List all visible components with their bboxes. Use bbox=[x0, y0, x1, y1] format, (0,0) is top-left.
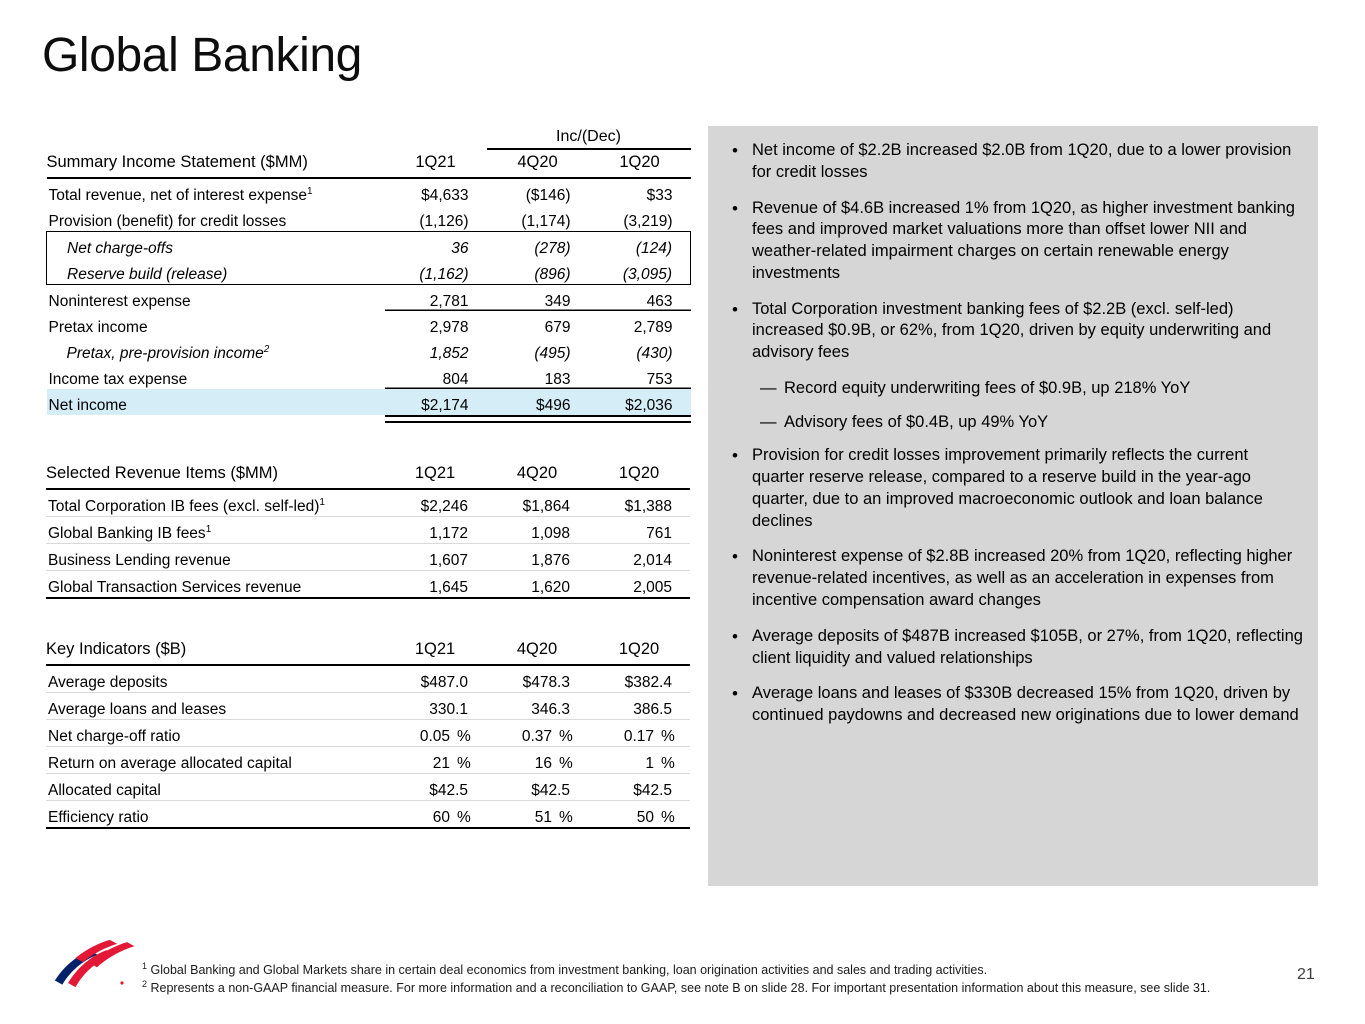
cell-value: 1,645 bbox=[429, 579, 468, 596]
row-value-cell: 21% bbox=[384, 747, 486, 774]
row-value-cell: 2,978 bbox=[385, 311, 487, 337]
cell-value: 0.17 bbox=[624, 728, 654, 746]
cell-value: 2,978 bbox=[430, 319, 469, 336]
cell-value: 50 bbox=[637, 809, 654, 827]
highlight-sub-bullet: —Advisory fees of $0.4B, up 49% YoY bbox=[718, 412, 1304, 434]
sub-bullet-text: Advisory fees of $0.4B, up 49% YoY bbox=[784, 413, 1048, 431]
row-value-cell: 0.17% bbox=[588, 720, 690, 747]
highlight-sub-bullet: —Record equity underwriting fees of $0.9… bbox=[718, 378, 1304, 400]
cell-value: $1,864 bbox=[523, 498, 570, 515]
table-bottom-rule bbox=[46, 827, 690, 828]
row-label-cell: Net charge-off ratio bbox=[46, 720, 384, 747]
row-label: Noninterest expense bbox=[49, 293, 191, 310]
highlight-bullet: •Noninterest expense of $2.8B increased … bbox=[718, 546, 1304, 611]
cell-value: $496 bbox=[536, 397, 570, 414]
row-value-cell: 0.37% bbox=[486, 720, 588, 747]
table-row: Pretax, pre-provision income21,852(495)(… bbox=[47, 337, 691, 363]
row-value-cell: ($146) bbox=[487, 178, 589, 205]
table-header-row: Summary Income Statement ($MM)1Q214Q201Q… bbox=[47, 149, 691, 177]
row-label: Income tax expense bbox=[49, 371, 188, 388]
row-value-cell: (3,095) bbox=[589, 258, 691, 285]
row-label: Average loans and leases bbox=[48, 701, 226, 718]
cell-value: (1,126) bbox=[419, 213, 468, 230]
row-value-cell: $33 bbox=[589, 178, 691, 205]
cell-value: 1,172 bbox=[429, 525, 468, 542]
cell-value: (896) bbox=[534, 266, 570, 283]
percent-sign: % bbox=[552, 755, 585, 773]
row-label-cell: Efficiency ratio bbox=[46, 801, 384, 828]
row-value-cell: $487.0 bbox=[384, 665, 486, 693]
column-header-label: Selected Revenue Items ($MM) bbox=[46, 461, 384, 488]
highlight-bullet: •Average deposits of $487B increased $10… bbox=[718, 626, 1304, 670]
column-header-label: Summary Income Statement ($MM) bbox=[47, 149, 385, 177]
cell-value: 21 bbox=[433, 755, 450, 773]
percent-sign: % bbox=[450, 755, 483, 773]
cell-value: 386.5 bbox=[633, 701, 672, 718]
cell-value: $478.3 bbox=[523, 674, 570, 691]
footnote-text: Global Banking and Global Markets share … bbox=[151, 963, 988, 977]
row-label: Allocated capital bbox=[48, 782, 161, 799]
cell-value: $42.5 bbox=[531, 782, 570, 799]
table-row: Average deposits$487.0$478.3$382.4 bbox=[46, 665, 690, 693]
cell-value: 753 bbox=[647, 371, 673, 388]
cell-value: 0.05 bbox=[420, 728, 450, 746]
row-label-cell: Total revenue, net of interest expense1 bbox=[47, 178, 385, 205]
cell-value: $2,246 bbox=[421, 498, 468, 515]
row-value-cell: (3,219) bbox=[589, 205, 691, 232]
row-value-cell: 1,876 bbox=[486, 544, 588, 571]
footnote-marker: 1 bbox=[307, 186, 313, 197]
bullet-text: Average deposits of $487B increased $105… bbox=[752, 627, 1303, 667]
percent-sign: % bbox=[552, 809, 585, 827]
highlights-panel: •Net income of $2.2B increased $2.0B fro… bbox=[708, 126, 1318, 886]
dash-marker-icon: — bbox=[760, 412, 777, 434]
table-header-row: Selected Revenue Items ($MM)1Q214Q201Q20 bbox=[46, 461, 690, 488]
table-row: Income tax expense804183753 bbox=[47, 363, 691, 389]
row-label: Provision (benefit) for credit losses bbox=[49, 213, 287, 230]
financial-tables-column: Inc/(Dec)Summary Income Statement ($MM)1… bbox=[46, 128, 690, 829]
footnotes: 1 Global Banking and Global Markets shar… bbox=[142, 962, 1262, 998]
table-row: Net income$2,174$496$2,036 bbox=[47, 389, 691, 415]
row-value-cell: 2,005 bbox=[588, 571, 690, 598]
cell-value: $382.4 bbox=[625, 674, 672, 691]
row-value-cell: $2,036 bbox=[589, 389, 691, 415]
percent-sign: % bbox=[450, 728, 483, 746]
row-label: Pretax income bbox=[49, 319, 148, 336]
column-header-1Q21: 1Q21 bbox=[384, 637, 486, 664]
cell-value: (3,219) bbox=[623, 213, 672, 230]
column-header-4Q20: 4Q20 bbox=[486, 637, 588, 664]
table-summary-income-statement: Inc/(Dec)Summary Income Statement ($MM)1… bbox=[46, 128, 691, 423]
row-value-cell: (124) bbox=[589, 232, 691, 259]
row-value-cell: (1,174) bbox=[487, 205, 589, 232]
row-label-cell: Global Transaction Services revenue bbox=[46, 571, 384, 598]
cell-value: 1 bbox=[645, 755, 654, 773]
sub-bullet-text: Record equity underwriting fees of $0.9B… bbox=[784, 379, 1190, 397]
double-rule bbox=[385, 415, 691, 423]
bullet-marker-icon: • bbox=[732, 140, 738, 162]
percent-sign: % bbox=[450, 809, 483, 827]
row-value-cell: $1,388 bbox=[588, 489, 690, 517]
row-label-cell: Average deposits bbox=[46, 665, 384, 693]
row-value-cell: 36 bbox=[385, 232, 487, 259]
page-number: 21 bbox=[1297, 966, 1315, 984]
cell-value: 2,005 bbox=[633, 579, 672, 596]
row-value-cell: 753 bbox=[589, 363, 691, 389]
footnote-marker: 2 bbox=[264, 344, 270, 355]
row-label: Net income bbox=[49, 397, 127, 414]
cell-value: 16 bbox=[535, 755, 552, 773]
percent-sign: % bbox=[654, 809, 687, 827]
row-value-cell: 1% bbox=[588, 747, 690, 774]
cell-value: 1,098 bbox=[531, 525, 570, 542]
row-value-cell: 16% bbox=[486, 747, 588, 774]
table-selected-revenue-items: Selected Revenue Items ($MM)1Q214Q201Q20… bbox=[46, 461, 690, 599]
row-label: Return on average allocated capital bbox=[48, 755, 292, 772]
row-value-cell: 1,098 bbox=[486, 517, 588, 544]
row-label-cell: Total Corporation IB fees (excl. self-le… bbox=[46, 489, 384, 517]
cell-value: (430) bbox=[636, 345, 672, 362]
row-label-cell: Net charge-offs bbox=[47, 232, 385, 259]
cell-value: 1,852 bbox=[430, 345, 469, 362]
cell-value: $2,036 bbox=[625, 397, 672, 414]
cell-value: 1,607 bbox=[429, 552, 468, 569]
row-label-cell: Provision (benefit) for credit losses bbox=[47, 205, 385, 232]
cell-value: 463 bbox=[647, 293, 673, 310]
row-label: Global Transaction Services revenue bbox=[48, 579, 301, 596]
cell-value: $33 bbox=[647, 187, 673, 204]
cell-value: (495) bbox=[534, 345, 570, 362]
row-label-cell: Global Banking IB fees1 bbox=[46, 517, 384, 544]
table-row: Reserve build (release)(1,162)(896)(3,09… bbox=[47, 258, 691, 285]
footnote-text: Represents a non-GAAP financial measure.… bbox=[151, 981, 1211, 995]
bullet-marker-icon: • bbox=[732, 198, 738, 220]
table-spacer bbox=[46, 423, 690, 461]
cell-value: ($146) bbox=[526, 187, 571, 204]
row-label: Net charge-off ratio bbox=[48, 728, 180, 745]
cell-value: (124) bbox=[636, 240, 672, 257]
table-spacer bbox=[46, 599, 690, 637]
cell-value: 183 bbox=[545, 371, 571, 388]
table-row: Average loans and leases330.1346.3386.5 bbox=[46, 693, 690, 720]
footnote-marker: 1 bbox=[319, 497, 325, 508]
row-value-cell: (1,126) bbox=[385, 205, 487, 232]
row-value-cell: $4,633 bbox=[385, 178, 487, 205]
row-value-cell: 60% bbox=[384, 801, 486, 828]
row-value-cell: $42.5 bbox=[486, 774, 588, 801]
row-label: Average deposits bbox=[48, 674, 168, 691]
row-value-cell: 1,620 bbox=[486, 571, 588, 598]
column-header-1Q20: 1Q20 bbox=[589, 149, 691, 177]
row-label-cell: Average loans and leases bbox=[46, 693, 384, 720]
row-label: Reserve build (release) bbox=[67, 266, 227, 283]
cell-value: 679 bbox=[545, 319, 571, 336]
table-row: Net charge-off ratio0.05%0.37%0.17% bbox=[46, 720, 690, 747]
highlight-bullet: •Revenue of $4.6B increased 1% from 1Q20… bbox=[718, 198, 1304, 285]
table-row: Return on average allocated capital21%16… bbox=[46, 747, 690, 774]
highlight-bullet: •Net income of $2.2B increased $2.0B fro… bbox=[718, 140, 1304, 184]
row-label-cell: Pretax, pre-provision income2 bbox=[47, 337, 385, 363]
table-row: Net charge-offs36(278)(124) bbox=[47, 232, 691, 259]
row-value-cell: 346.3 bbox=[486, 693, 588, 720]
row-value-cell: 330.1 bbox=[384, 693, 486, 720]
cell-value: 0.37 bbox=[522, 728, 552, 746]
table-row: Provision (benefit) for credit losses(1,… bbox=[47, 205, 691, 232]
row-value-cell: 463 bbox=[589, 285, 691, 312]
highlight-bullet: •Average loans and leases of $330B decre… bbox=[718, 683, 1304, 727]
row-label-cell: Allocated capital bbox=[46, 774, 384, 801]
row-label-cell: Pretax income bbox=[47, 311, 385, 337]
cell-value: 2,014 bbox=[633, 552, 672, 569]
table-row: Efficiency ratio60%51%50% bbox=[46, 801, 690, 828]
row-value-cell: $1,864 bbox=[486, 489, 588, 517]
cell-value: 761 bbox=[646, 525, 672, 542]
row-value-cell: 1,645 bbox=[384, 571, 486, 598]
row-value-cell: 386.5 bbox=[588, 693, 690, 720]
cell-value: 349 bbox=[545, 293, 571, 310]
row-value-cell: $2,174 bbox=[385, 389, 487, 415]
row-value-cell: (278) bbox=[487, 232, 589, 259]
bullet-marker-icon: • bbox=[732, 546, 738, 568]
cell-value: 51 bbox=[535, 809, 552, 827]
row-label-cell: Noninterest expense bbox=[47, 285, 385, 312]
row-label: Business Lending revenue bbox=[48, 552, 231, 569]
highlight-bullet: •Provision for credit losses improvement… bbox=[718, 445, 1304, 532]
row-value-cell: 679 bbox=[487, 311, 589, 337]
table-row: Noninterest expense2,781349463 bbox=[47, 285, 691, 312]
row-value-cell: (896) bbox=[487, 258, 589, 285]
row-value-cell: (430) bbox=[589, 337, 691, 363]
double-rule-row bbox=[47, 415, 691, 423]
cell-value: 2,789 bbox=[634, 319, 673, 336]
bank-of-america-logo bbox=[50, 938, 146, 990]
highlights-bullet-list: •Net income of $2.2B increased $2.0B fro… bbox=[718, 140, 1304, 741]
row-value-cell: 1,852 bbox=[385, 337, 487, 363]
cell-value: $42.5 bbox=[633, 782, 672, 799]
dash-marker-icon: — bbox=[760, 378, 777, 400]
table-header-row: Key Indicators ($B)1Q214Q201Q20 bbox=[46, 637, 690, 664]
table-row: Global Transaction Services revenue1,645… bbox=[46, 571, 690, 598]
cell-value: (1,162) bbox=[419, 266, 468, 283]
table-row: Pretax income2,9786792,789 bbox=[47, 311, 691, 337]
row-value-cell: $2,246 bbox=[384, 489, 486, 517]
row-label-cell: Return on average allocated capital bbox=[46, 747, 384, 774]
bullet-text: Provision for credit losses improvement … bbox=[752, 446, 1263, 529]
bullet-marker-icon: • bbox=[732, 299, 738, 321]
row-value-cell: $42.5 bbox=[588, 774, 690, 801]
column-header-1Q20: 1Q20 bbox=[588, 461, 690, 488]
row-label: Total Corporation IB fees (excl. self-le… bbox=[48, 498, 319, 515]
cell-value: $1,388 bbox=[625, 498, 672, 515]
table-row: Total revenue, net of interest expense1$… bbox=[47, 178, 691, 205]
row-label-cell: Income tax expense bbox=[47, 363, 385, 389]
table-bottom-rule bbox=[46, 597, 690, 598]
row-value-cell: 1,172 bbox=[384, 517, 486, 544]
row-value-cell: (495) bbox=[487, 337, 589, 363]
footnote-line: 1 Global Banking and Global Markets shar… bbox=[142, 962, 1262, 980]
table-group-header-row: Inc/(Dec) bbox=[47, 128, 691, 149]
bullet-marker-icon: • bbox=[732, 445, 738, 467]
column-header-label: Key Indicators ($B) bbox=[46, 637, 384, 664]
group-header-incdec: Inc/(Dec) bbox=[487, 128, 691, 149]
bullet-text: Noninterest expense of $2.8B increased 2… bbox=[752, 547, 1292, 609]
cell-value: 1,620 bbox=[531, 579, 570, 596]
column-header-1Q20: 1Q20 bbox=[588, 637, 690, 664]
row-value-cell: 183 bbox=[487, 363, 589, 389]
table-row: Business Lending revenue1,6071,8762,014 bbox=[46, 544, 690, 571]
row-value-cell: 804 bbox=[385, 363, 487, 389]
percent-sign: % bbox=[654, 755, 687, 773]
row-value-cell: 51% bbox=[486, 801, 588, 828]
cell-value: (1,174) bbox=[521, 213, 570, 230]
column-header-1Q21: 1Q21 bbox=[384, 461, 486, 488]
cell-value: 1,876 bbox=[531, 552, 570, 569]
bullet-text: Revenue of $4.6B increased 1% from 1Q20,… bbox=[752, 199, 1295, 282]
table-row: Total Corporation IB fees (excl. self-le… bbox=[46, 489, 690, 517]
highlight-bullet: •Total Corporation investment banking fe… bbox=[718, 299, 1304, 364]
cell-value: 2,781 bbox=[430, 293, 469, 310]
row-value-cell: $42.5 bbox=[384, 774, 486, 801]
row-label: Pretax, pre-provision income bbox=[67, 345, 264, 362]
row-label-cell: Reserve build (release) bbox=[47, 258, 385, 285]
row-value-cell: 1,607 bbox=[384, 544, 486, 571]
row-value-cell: $382.4 bbox=[588, 665, 690, 693]
table-row: Allocated capital$42.5$42.5$42.5 bbox=[46, 774, 690, 801]
row-value-cell: 2,014 bbox=[588, 544, 690, 571]
cell-value: 60 bbox=[433, 809, 450, 827]
row-value-cell: 50% bbox=[588, 801, 690, 828]
cell-value: $4,633 bbox=[421, 187, 468, 204]
bullet-marker-icon: • bbox=[732, 626, 738, 648]
column-header-4Q20: 4Q20 bbox=[487, 149, 589, 177]
table-row: Global Banking IB fees11,1721,098761 bbox=[46, 517, 690, 544]
row-value-cell: $478.3 bbox=[486, 665, 588, 693]
row-label-cell: Net income bbox=[47, 389, 385, 415]
bullet-text: Total Corporation investment banking fee… bbox=[752, 300, 1271, 362]
cell-value: $2,174 bbox=[421, 397, 468, 414]
row-label: Global Banking IB fees bbox=[48, 525, 206, 542]
row-label: Efficiency ratio bbox=[48, 809, 149, 826]
row-value-cell: 349 bbox=[487, 285, 589, 312]
bullet-text: Net income of $2.2B increased $2.0B from… bbox=[752, 141, 1291, 181]
footnote-line: 2 Represents a non-GAAP financial measur… bbox=[142, 980, 1262, 998]
table-key-indicators: Key Indicators ($B)1Q214Q201Q20Average d… bbox=[46, 637, 690, 829]
bullet-marker-icon: • bbox=[732, 683, 738, 705]
row-value-cell: $496 bbox=[487, 389, 589, 415]
row-value-cell: 761 bbox=[588, 517, 690, 544]
cell-value: 330.1 bbox=[429, 701, 468, 718]
row-value-cell: (1,162) bbox=[385, 258, 487, 285]
cell-value: $487.0 bbox=[421, 674, 468, 691]
cell-value: 36 bbox=[451, 240, 468, 257]
percent-sign: % bbox=[654, 728, 687, 746]
page-title: Global Banking bbox=[42, 30, 362, 83]
percent-sign: % bbox=[552, 728, 585, 746]
bullet-text: Average loans and leases of $330B decrea… bbox=[752, 684, 1299, 724]
column-header-4Q20: 4Q20 bbox=[486, 461, 588, 488]
cell-value: (278) bbox=[534, 240, 570, 257]
cell-value: (3,095) bbox=[623, 266, 672, 283]
row-value-cell: 0.05% bbox=[384, 720, 486, 747]
row-label: Total revenue, net of interest expense bbox=[49, 187, 308, 204]
column-header-1Q21: 1Q21 bbox=[385, 149, 487, 177]
row-value-cell: 2,781 bbox=[385, 285, 487, 312]
footnote-marker: 1 bbox=[142, 961, 147, 971]
cell-value: 804 bbox=[443, 371, 469, 388]
row-value-cell: 2,789 bbox=[589, 311, 691, 337]
cell-value: $42.5 bbox=[429, 782, 468, 799]
footnote-marker: 2 bbox=[142, 979, 147, 989]
row-label: Net charge-offs bbox=[67, 240, 173, 257]
cell-value: 346.3 bbox=[531, 701, 570, 718]
footnote-marker: 1 bbox=[206, 524, 212, 535]
row-label-cell: Business Lending revenue bbox=[46, 544, 384, 571]
